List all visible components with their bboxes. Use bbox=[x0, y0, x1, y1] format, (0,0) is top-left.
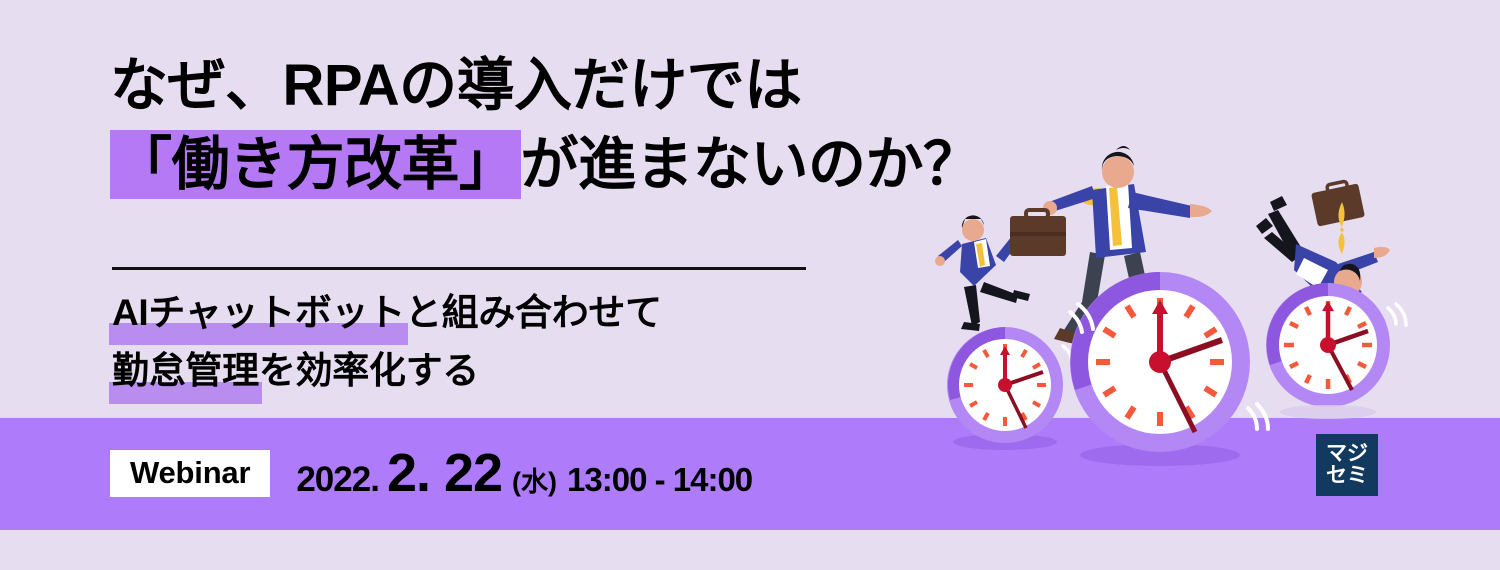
clock-center bbox=[1070, 272, 1268, 452]
headline: なぜ、RPAの導入だけでは 「働き方改革」が進まないのか？ bbox=[110, 52, 1090, 199]
event-datetime: 2022. 2. 22 (水) 13:00 - 14:00 bbox=[296, 446, 752, 500]
headline-line-2-rest: が進まないのか？ bbox=[521, 132, 981, 197]
subtitle: AIチャットボットと組み合わせて 勤怠管理を効率化する bbox=[112, 284, 1012, 401]
event-time: 13:00 - 14:00 bbox=[567, 463, 752, 496]
logo-line-1: マジ bbox=[1326, 443, 1368, 465]
subtitle-line-1: AIチャットボットと組み合わせて bbox=[112, 284, 1012, 342]
subtitle-highlight-1: AIチャットボット bbox=[112, 284, 405, 342]
event-year: 2022. bbox=[296, 462, 379, 497]
divider bbox=[112, 267, 806, 270]
event-date-row: Webinar 2022. 2. 22 (水) 13:00 - 14:00 bbox=[110, 444, 752, 502]
subtitle-line-2-rest: を効率化する bbox=[259, 350, 479, 391]
event-weekday: (水) bbox=[512, 469, 557, 496]
subtitle-highlight-2: 勤怠管理 bbox=[112, 342, 259, 400]
clock-right bbox=[1266, 283, 1406, 419]
majisemi-logo[interactable]: マジ セミ bbox=[1316, 434, 1378, 496]
headline-line-1: なぜ、RPAの導入だけでは bbox=[110, 52, 1090, 119]
subtitle-line-1-rest: と組み合わせて bbox=[405, 292, 662, 333]
headline-line-2: 「働き方改革」が進まないのか？ bbox=[110, 131, 1090, 198]
subtitle-line-2: 勤怠管理を効率化する bbox=[112, 342, 1012, 400]
logo-line-2: セミ bbox=[1326, 465, 1368, 487]
event-month-day: 2. 22 bbox=[387, 446, 502, 500]
webinar-badge: Webinar bbox=[110, 450, 270, 497]
webinar-banner: なぜ、RPAの導入だけでは 「働き方改革」が進まないのか？ AIチャットボットと… bbox=[0, 0, 1500, 570]
headline-highlight: 「働き方改革」 bbox=[110, 130, 521, 199]
